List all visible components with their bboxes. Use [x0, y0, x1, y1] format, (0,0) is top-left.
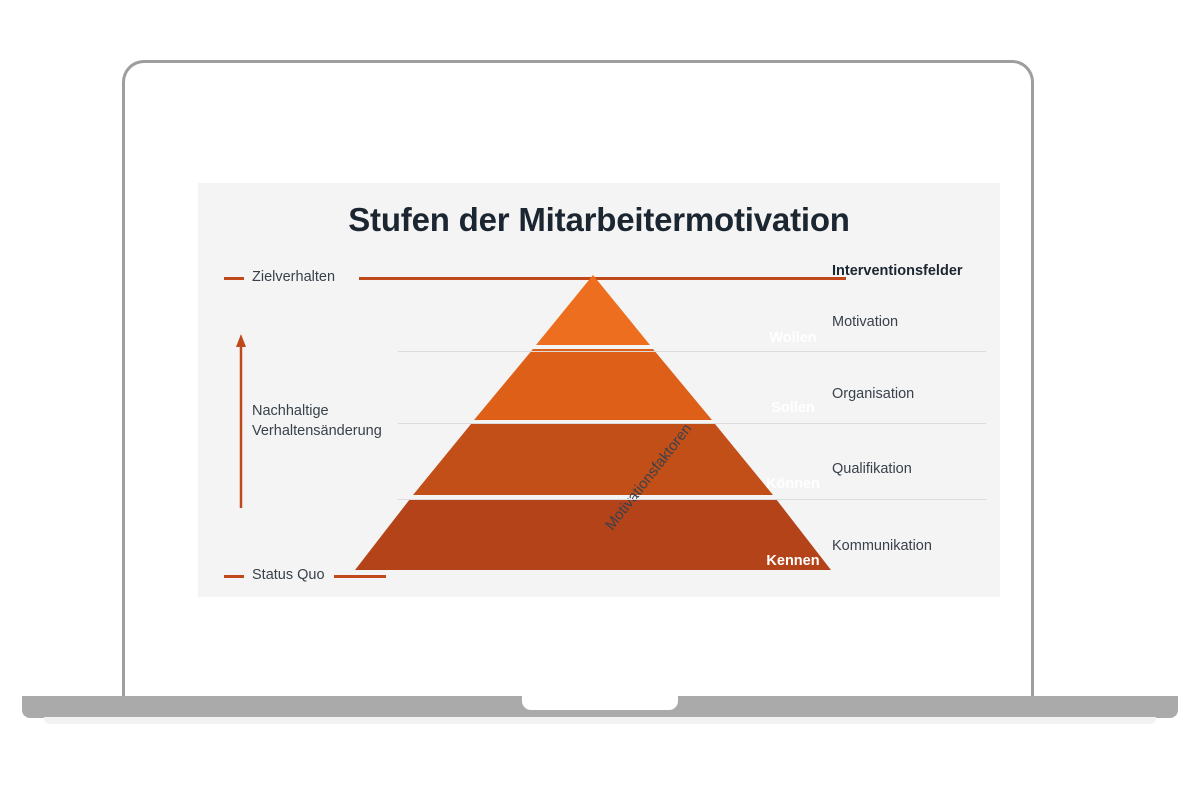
- interventions-divider: [398, 351, 986, 352]
- page-title: Stufen der Mitarbeitermotivation: [198, 201, 1000, 239]
- interventions-divider: [398, 423, 986, 424]
- pyramid-label-koennen: Können: [766, 476, 820, 492]
- pyramid-tier-sollen[interactable]: [474, 349, 712, 420]
- intervention-item-qualifikation[interactable]: Qualifikation: [832, 461, 912, 477]
- interventions-header: Interventionsfelder: [832, 263, 963, 279]
- status-quo-dash-icon: [224, 575, 244, 578]
- upward-arrow-icon: [234, 333, 248, 508]
- zielverhalten-label: Zielverhalten: [252, 269, 335, 285]
- pyramid-tier-koennen[interactable]: [413, 424, 773, 495]
- zielverhalten-dash-icon: [224, 277, 244, 280]
- status-quo-label: Status Quo: [252, 567, 325, 583]
- pyramid-label-sollen: Sollen: [771, 400, 815, 416]
- laptop-base-notch: [522, 696, 678, 710]
- interventions-divider: [398, 499, 986, 500]
- pyramid-chart: [353, 275, 833, 577]
- pyramid-tier-wollen[interactable]: [536, 275, 650, 345]
- pyramid-label-wollen: Wollen: [769, 330, 816, 346]
- pyramid-tier-kennen[interactable]: [355, 499, 831, 570]
- slide-panel: Stufen der Mitarbeitermotivation Zielver…: [198, 183, 1000, 597]
- intervention-item-motivation[interactable]: Motivation: [832, 314, 898, 330]
- intervention-item-organisation[interactable]: Organisation: [832, 386, 914, 402]
- pyramid-label-kennen: Kennen: [766, 553, 819, 569]
- laptop-foot-shadow: [44, 717, 1156, 724]
- intervention-item-kommunikation[interactable]: Kommunikation: [832, 538, 932, 554]
- laptop-mockup: Stufen der Mitarbeitermotivation Zielver…: [0, 0, 1200, 790]
